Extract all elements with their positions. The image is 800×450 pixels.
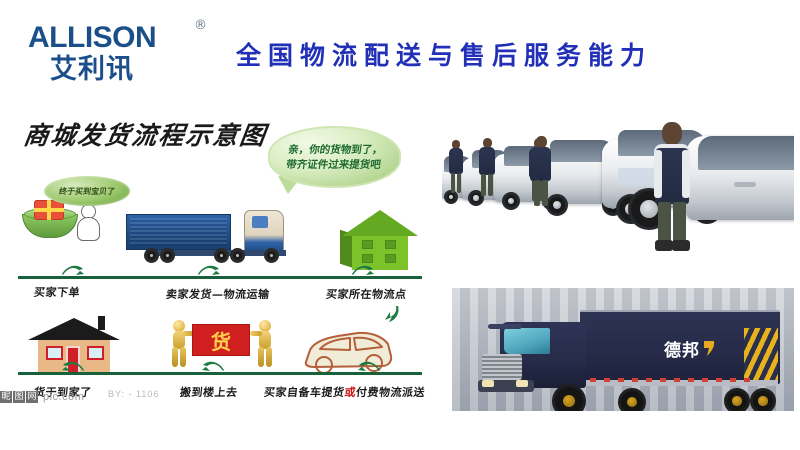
company-logo: ALLISON 艾利讯 ® <box>28 22 213 84</box>
truck-windshield <box>504 328 550 354</box>
self-pickup-before: 买家自备车提货 <box>263 386 345 399</box>
speech-line-1: 亲，你的货物到了， <box>287 144 383 156</box>
staff-member-mid <box>530 136 552 208</box>
speech-bubble-text: 亲，你的货物到了， 带齐证件过来提货吧 <box>264 126 406 188</box>
gift-box-icon <box>22 200 78 240</box>
logo-chinese-text: 艾利讯 <box>50 55 213 85</box>
staff-member-distant-1 <box>448 140 464 198</box>
truck-brand-text: 德邦 <box>664 336 700 361</box>
truck-mid-wheel <box>618 388 646 411</box>
flow-label-seller-ship: 卖家发货—物流运输 <box>165 286 270 302</box>
buyer-figure-icon <box>74 204 104 244</box>
cargo-box: 货 <box>192 324 250 356</box>
truck-headlight-left <box>482 380 494 387</box>
flow-divider-2 <box>18 372 422 375</box>
logo-english-text: ALLISON <box>28 22 213 54</box>
truck-rear-wheel-2 <box>750 388 776 411</box>
flow-label-goods-home: 货于到家了 <box>33 384 92 400</box>
truck-headlight-right <box>516 380 528 387</box>
trailer-reflector-strip <box>590 378 750 382</box>
gift-badge-text: 终于买到宝贝了 <box>42 176 132 206</box>
flow-label-carry-upstairs: 搬到楼上去 <box>179 384 238 400</box>
flow-label-local-station: 买家所在物流点 <box>325 286 407 302</box>
door-handle <box>734 182 756 187</box>
self-pickup-after: 付费物流派送 <box>355 386 425 399</box>
speech-line-2: 带齐证件过来提货吧 <box>285 159 381 171</box>
page-title: 全国物流配送与售后服务能力 <box>236 36 776 78</box>
logistics-truck-photo: 德邦 <box>452 288 794 411</box>
staff-member-distant-2 <box>478 138 496 200</box>
flow-label-buyer-order: 买家下单 <box>33 284 81 300</box>
deppon-hook-icon <box>703 340 716 357</box>
gift-badge-bubble: 终于买到宝贝了 <box>44 176 130 206</box>
truck-brand-logo: 德邦 <box>664 336 716 361</box>
slide-canvas: ALLISON 艾利讯 ® 全国物流配送与售后服务能力 商城发货流程示意图 终于… <box>0 0 800 450</box>
flow-divider-1 <box>18 276 422 279</box>
delivery-speech-bubble: 亲，你的货物到了， 带齐证件过来提货吧 <box>268 126 401 188</box>
registered-trademark-icon: ® <box>194 18 207 33</box>
trailer-hazard-stripes <box>744 328 778 380</box>
service-vehicle-fleet-photo <box>442 110 794 265</box>
truck-sun-visor <box>488 324 522 329</box>
truck-grille <box>482 354 522 380</box>
shipping-flow-diagram: 商城发货流程示意图 终于买到宝贝了 亲，你的货物到了， 带齐证件过来提货吧 <box>0 104 440 424</box>
truck-rear-wheel-1 <box>724 388 750 411</box>
staff-member-foreground <box>650 122 694 254</box>
flow-label-self-pickup: 买家自备车提货或付费物流派送 <box>263 384 426 400</box>
flow-arrow-7 <box>378 304 404 320</box>
truck-front-wheel <box>552 384 586 411</box>
slide-header: ALLISON 艾利讯 ® 全国物流配送与售后服务能力 <box>0 0 800 100</box>
diagram-title: 商城发货流程示意图 <box>21 116 269 152</box>
cargo-box-char: 货 <box>193 325 249 355</box>
